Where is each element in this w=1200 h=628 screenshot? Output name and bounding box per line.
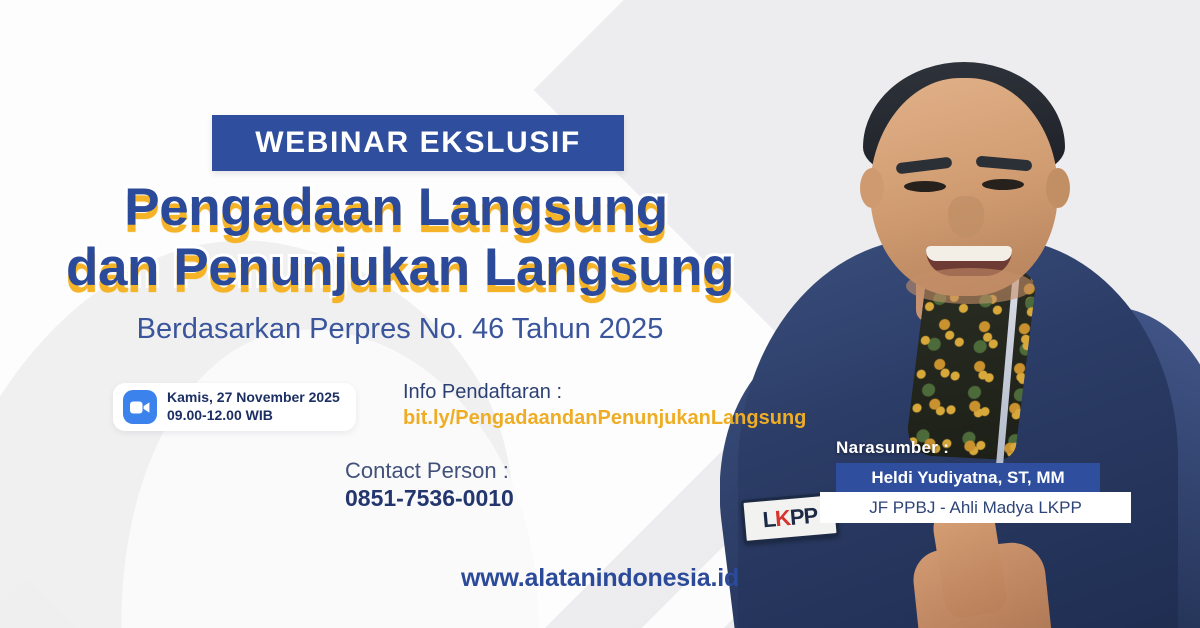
contact-label: Contact Person : <box>345 458 514 483</box>
schedule-text: Kamis, 27 November 2025 09.00-12.00 WIB <box>167 389 340 425</box>
webinar-badge: WEBINAR EKSLUSIF <box>212 115 624 171</box>
title-line-2: dan Penunjukan Langsung <box>0 240 800 296</box>
website-url[interactable]: www.alatanindonesia.id <box>0 564 1200 593</box>
main-title: Pengadaan Langsung dan Penunjukan Langsu… <box>0 180 800 296</box>
speaker-name: Heldi Yudiyatna, ST, MM <box>836 463 1100 492</box>
teeth <box>926 246 1012 261</box>
eye-right <box>982 179 1024 190</box>
chin <box>906 268 1034 304</box>
speaker-label: Narasumber : <box>836 438 1156 458</box>
contact-person: Contact Person : 0851-7536-0010 <box>345 458 514 513</box>
registration-link[interactable]: bit.ly/PengadaandanPenunjukanLangsung <box>403 406 806 430</box>
webinar-badge-label: WEBINAR EKSLUSIF <box>255 126 581 160</box>
contact-number[interactable]: 0851-7536-0010 <box>345 485 514 513</box>
speaker-role: JF PPBJ - Ahli Madya LKPP <box>820 492 1131 523</box>
schedule-pill: Kamis, 27 November 2025 09.00-12.00 WIB <box>113 383 356 431</box>
ear-right <box>1046 168 1070 208</box>
subtitle-regulation: Berdasarkan Perpres No. 46 Tahun 2025 <box>0 313 800 346</box>
webinar-banner: LKPP WEBINAR EKSLUSIF Pengadaan Langsung… <box>0 0 1200 628</box>
video-camera-glyph <box>130 401 150 414</box>
content-area: WEBINAR EKSLUSIF Pengadaan Langsung dan … <box>0 0 840 628</box>
nose <box>948 196 984 238</box>
eye-left <box>904 181 946 192</box>
title-line-1: Pengadaan Langsung <box>0 180 800 236</box>
schedule-date: Kamis, 27 November 2025 <box>167 389 340 407</box>
zoom-video-camera-icon <box>123 390 157 424</box>
speaker-nameplate: Narasumber : Heldi Yudiyatna, ST, MM JF … <box>836 438 1156 523</box>
registration-label: Info Pendaftaran : <box>403 380 806 404</box>
schedule-time: 09.00-12.00 WIB <box>167 407 340 425</box>
ear-left <box>860 168 884 208</box>
registration-info: Info Pendaftaran : bit.ly/PengadaandanPe… <box>403 380 806 430</box>
